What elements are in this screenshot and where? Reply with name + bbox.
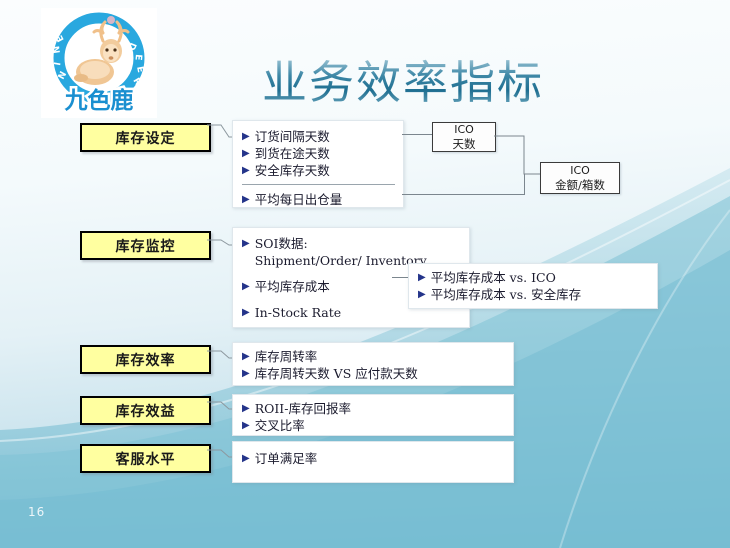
panel-monitor-metrics: ▶平均库存成本 vs. ICO ▶平均库存成本 vs. 安全库存 bbox=[408, 263, 658, 309]
bullet-icon: ▶ bbox=[242, 400, 250, 417]
svg-text:N: N bbox=[52, 45, 63, 54]
bullet-icon: ▶ bbox=[242, 348, 250, 365]
ico-amount-line1: ICO bbox=[570, 164, 590, 178]
list-item: ▶安全库存天数 bbox=[242, 162, 395, 179]
bullet-icon: ▶ bbox=[242, 235, 250, 252]
list-item: ▶平均每日出仓量 bbox=[242, 191, 395, 208]
ico-days-line2: 天数 bbox=[453, 137, 476, 151]
bullet-icon: ▶ bbox=[242, 450, 250, 467]
soi-label: SOI数据: bbox=[255, 236, 308, 251]
panel-inventory-benefit: ▶ROII-库存回报率 ▶交叉比率 bbox=[232, 394, 514, 436]
connector-chip-to-panel-2 bbox=[207, 231, 235, 257]
connector-chip-to-panel-5 bbox=[207, 444, 235, 470]
ico-box-days: ICO 天数 bbox=[432, 122, 496, 152]
list-item: ▶平均库存成本 vs. 安全库存 bbox=[418, 286, 649, 303]
slide-canvas: N I N E D E E R 九色鹿 九色鹿 bbox=[0, 0, 730, 548]
page-title: 业务效率指标 bbox=[262, 52, 592, 114]
svg-text:九色鹿: 九色鹿 bbox=[64, 87, 134, 114]
list-item: ▶库存周转率 bbox=[242, 348, 505, 365]
list-item: ▶平均库存成本 vs. ICO bbox=[418, 269, 649, 286]
company-logo: N I N E D E E R 九色鹿 九色鹿 bbox=[41, 8, 157, 118]
ico-days-line1: ICO bbox=[454, 123, 474, 137]
connector-avg-daily-to-bracket bbox=[402, 194, 524, 195]
list-item: ▶交叉比率 bbox=[242, 417, 505, 434]
bullet-icon: ▶ bbox=[242, 145, 250, 162]
section-chip-inventory-benefit[interactable]: 库存效益 bbox=[80, 396, 211, 425]
connector-panel2-to-metrics bbox=[392, 277, 408, 278]
connector-chip-to-panel-1 bbox=[207, 123, 235, 149]
ico-amount-line2: 金额/箱数 bbox=[555, 178, 605, 192]
connector-bracket-riser bbox=[524, 174, 525, 195]
list-item: ▶ROII-库存回报率 bbox=[242, 400, 505, 417]
bullet-icon: ▶ bbox=[242, 304, 250, 321]
list-item: ▶库存周转天数 VS 应付款天数 bbox=[242, 365, 505, 382]
ico-box-amount: ICO 金额/箱数 bbox=[540, 162, 620, 194]
panel-inventory-setting: ▶订货间隔天数 ▶到货在途天数 ▶安全库存天数 ▶平均每日出仓量 bbox=[232, 120, 404, 208]
connector-chip-to-panel-4 bbox=[207, 396, 235, 422]
panel-service-level: ▶订单满足率 bbox=[232, 441, 514, 483]
bullet-icon: ▶ bbox=[242, 365, 250, 382]
soi-expansion: Shipment/Order/ Inventory bbox=[255, 253, 427, 268]
section-chip-inventory-monitoring[interactable]: 库存监控 bbox=[80, 231, 211, 260]
section-chip-service-level[interactable]: 客服水平 bbox=[80, 444, 211, 473]
deer-logo-icon: N I N E D E E R 九色鹿 九色鹿 bbox=[41, 8, 157, 118]
list-item: ▶到货在途天数 bbox=[242, 145, 395, 162]
list-item: ▶订单满足率 bbox=[242, 450, 505, 467]
panel-inventory-efficiency: ▶库存周转率 ▶库存周转天数 VS 应付款天数 bbox=[232, 342, 514, 386]
bullet-icon: ▶ bbox=[242, 278, 250, 295]
bullet-icon: ▶ bbox=[418, 286, 426, 303]
panel-divider bbox=[242, 184, 395, 185]
section-chip-inventory-setting[interactable]: 库存设定 bbox=[80, 123, 211, 152]
page-number: 16 bbox=[28, 505, 45, 519]
connector-panel-to-ico-days bbox=[402, 134, 432, 135]
svg-text:E: E bbox=[134, 66, 145, 74]
bullet-icon: ▶ bbox=[242, 128, 250, 145]
bullet-icon: ▶ bbox=[242, 417, 250, 434]
section-chip-inventory-efficiency[interactable]: 库存效率 bbox=[80, 345, 211, 374]
list-item: ▶订货间隔天数 bbox=[242, 128, 395, 145]
bullet-icon: ▶ bbox=[242, 191, 250, 208]
bullet-icon: ▶ bbox=[242, 162, 250, 179]
svg-text:E: E bbox=[132, 54, 142, 61]
connector-chip-to-panel-3 bbox=[207, 345, 235, 371]
bullet-icon: ▶ bbox=[418, 269, 426, 286]
